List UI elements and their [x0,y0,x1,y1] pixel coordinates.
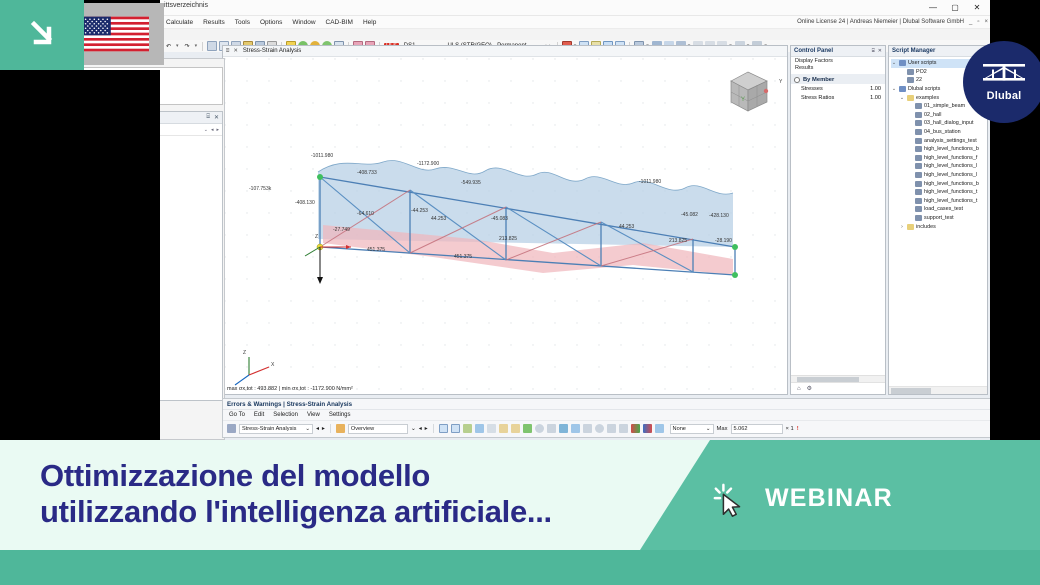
max-value: 5.062 [734,426,748,432]
analysis-next-icon[interactable]: ▸ [322,426,325,432]
menu-item-help[interactable]: Help [363,19,376,26]
result-label: 213.825 [499,236,517,242]
result-label: -27.749 [333,227,350,233]
script-file-icon [907,69,914,75]
script-tree-item[interactable]: high_level_functions_l [891,162,987,171]
max-label: Max [717,426,728,432]
menu-item-selection[interactable]: Selection [273,412,298,418]
script-tree-item[interactable]: analysis_settings_test [891,136,987,145]
script-file-icon [915,103,922,109]
control-panel: Control Panel ⌸ ✕ Display Factors Result… [790,45,886,395]
script-tree-item[interactable]: support_test [891,214,987,223]
script-tree-item[interactable]: 04_bus_station [891,128,987,137]
menu-item-view[interactable]: View [307,412,320,418]
script-tree-item-label: 02_hall [924,112,941,118]
script-file-icon [915,112,922,118]
left-black-strip [0,70,160,440]
filter-select-value: None [673,426,686,432]
script-tree-item-label: 03_hall_dialog_input [924,120,973,126]
home-icon[interactable]: ⌂ [797,386,801,392]
viewport-title: Stress-Strain Analysis [243,48,301,54]
group-results-icon[interactable] [571,424,580,433]
banner-title-line-1: Ottimizzazione del modello [40,458,700,494]
overview-next-icon[interactable]: ▸ [425,426,428,432]
analysis-select-value: Stress-Strain Analysis [242,426,296,432]
result-label: -64.610 [357,211,374,217]
script-tree-item-label: high_level_functions_t [924,189,977,195]
errors-warnings-title: Errors & Warnings | Stress-Strain Analys… [227,401,352,408]
webinar-banner: Ottimizzazione del modello utilizzando l… [0,440,1040,550]
navigator-close-icon[interactable]: ✕ [214,114,219,121]
factor-row-stress-ratios[interactable]: Stress Ratios 1.00 [791,93,885,102]
script-tree-item[interactable]: high_level_functions_b [891,145,987,154]
factor-label: Stresses [801,86,823,92]
arrow-down-right-icon [25,18,59,52]
script-file-icon [915,206,922,212]
viewport-close-icon[interactable]: ✕ [233,48,238,55]
view-cube[interactable]: Y [721,65,775,119]
svg-text:Z: Z [243,350,246,356]
script-tree-item[interactable]: high_level_functions_t [891,188,987,197]
result-label: 451.375 [367,247,385,253]
result-label: -45.083 [491,216,508,222]
errors-warnings-dock: Errors & Warnings | Stress-Strain Analys… [222,398,1038,438]
script-file-icon [907,77,914,83]
menu-item-cad-bim[interactable]: CAD-BIM [326,19,353,26]
document-minimize-button[interactable]: _ [969,19,972,25]
script-file-icon [915,163,922,169]
banner-title: Ottimizzazione del modello utilizzando l… [40,458,700,530]
script-tree-item-label: examples [916,95,939,101]
webinar-tag: WEBINAR [765,484,893,513]
analysis-type-icon [227,424,236,433]
search-results-icon[interactable] [595,424,604,433]
banner-bottom-bar [0,550,1040,585]
script-file-icon [915,198,922,204]
script-tree-item-label: 04_bus_station [924,129,961,135]
filter-select[interactable]: None ⌄ [670,424,714,434]
errors-warnings-header: Errors & Warnings | Stress-Strain Analys… [223,399,1037,410]
result-label: -44.253 [411,208,428,214]
maximize-button[interactable]: ▢ [944,0,966,15]
window-title: ittsverzeichnis [164,2,208,9]
navigator-prev-icon[interactable]: ◂ [211,127,214,133]
result-label: -408.733 [357,170,377,176]
script-tree-item-label: high_level_functions_l [924,163,977,169]
result-label: -1011.980 [311,153,333,159]
folder-icon [899,86,906,92]
open-folder-icon[interactable] [499,424,508,433]
script-tree-item-label: load_cases_test [924,206,963,212]
warning-indicator-icon[interactable]: ! [797,426,799,432]
script-tree-item[interactable]: high_level_functions_t [891,197,987,206]
overview-select[interactable]: Overview [348,424,408,434]
minimize-button[interactable]: — [922,0,944,15]
script-manager-title: Script Manager [892,48,935,54]
control-panel-header: Control Panel ⌸ ✕ [791,46,885,57]
script-file-icon [915,138,922,144]
viewport-pin-icon[interactable]: ⌸ [226,48,229,55]
script-file-icon [915,189,922,195]
script-file-icon [915,181,922,187]
result-label: -549.935 [461,180,481,186]
factor-label: Stress Ratios [801,95,834,101]
control-panel-scrollbar[interactable] [791,375,885,382]
folder-icon [907,224,914,230]
by-member-group[interactable]: By Member [791,74,885,84]
result-label: -107.753k [249,186,271,192]
by-member-radio[interactable] [794,77,800,83]
script-tree-item[interactable]: 02_hall [891,111,987,120]
menu-item-window[interactable]: Window [292,19,315,26]
tree-expand-arrow-icon[interactable]: ⌄ [891,60,897,66]
settings-icon[interactable]: ⚙ [807,385,812,392]
script-file-icon [915,146,922,152]
zoom-icon[interactable] [607,424,616,433]
results-label: Results [791,64,885,71]
document-close-button[interactable]: × [984,19,988,25]
control-panel-footer: ⌂ ⚙ [791,382,885,394]
script-tree-item-label: high_level_functions_l [924,172,977,178]
script-file-icon [915,120,922,126]
window-titlebar: ittsverzeichnis — ▢ ✕ [160,0,990,16]
model-view-icon[interactable] [207,41,217,51]
viewport-canvas[interactable]: X Z -1011.980 -408.733 -1172.900 -549.93… [223,57,787,394]
result-label: -408.130 [295,200,315,206]
print-icon[interactable] [547,424,556,433]
script-tree-item-label: high_level_functions_b [924,181,979,187]
view-axis-y-label: Y [779,79,782,85]
analysis-select[interactable]: Stress-Strain Analysis ⌄ [239,424,313,434]
tree-expand-arrow-icon[interactable]: › [899,224,905,230]
menu-item-tools[interactable]: Tools [235,19,250,26]
result-label: -428.130 [709,213,729,219]
analysis-prev-icon[interactable]: ◂ [316,426,319,432]
tree-expand-arrow-icon[interactable]: ⌄ [899,95,905,101]
control-panel-pin-icon[interactable]: ⌸ [872,48,875,54]
navigator-pin-icon[interactable]: ⌸ [206,114,210,121]
document-restore-button[interactable]: ▫ [977,19,979,25]
close-button[interactable]: ✕ [966,0,988,15]
display-factors-label: Display Factors [791,57,885,64]
license-info-row: Online License 24 | Andreas Niemeier | D… [797,16,988,27]
arrow-badge [0,0,84,70]
color-scale-icon[interactable] [631,424,640,433]
banner-title-line-2: utilizzando l'intelligenza artificiale..… [40,494,700,530]
result-label: 44.253 [619,224,634,230]
factor-value[interactable]: 1.00 [870,95,881,101]
analysis-select-caret-icon[interactable]: ⌄ [305,426,310,432]
folder-icon [907,95,914,101]
dlubal-mark-icon [982,63,1026,89]
save-folder-icon[interactable] [511,424,520,433]
screenshot-root: ittsverzeichnis — ▢ ✕ Calculate Results … [0,0,1040,585]
navigator-caret-icon[interactable]: ⌄ [204,127,208,133]
click-cursor-icon [712,482,750,520]
menu-item-settings[interactable]: Settings [329,412,351,418]
script-tree-item-label: support_test [924,215,954,221]
result-label: -1172.900 [417,161,439,167]
undo-caret-icon[interactable]: ▾ [176,43,179,49]
script-tree-item-label: high_level_functions_f [924,155,977,161]
script-tree-item-label: Dlubal scripts [908,86,940,92]
script-file-icon [915,155,922,161]
color-scale-2-icon[interactable] [643,424,652,433]
script-tree-item-label: PO2 [916,69,927,75]
script-tree-item-label: includes [916,224,936,230]
script-tree-item[interactable]: high_level_functions_l [891,171,987,180]
distribute-results-icon[interactable] [655,424,664,433]
globe-icon[interactable] [535,424,544,433]
surface-results-icon[interactable] [475,424,484,433]
max-value-field[interactable]: 5.062 [731,424,783,434]
pin-results-icon[interactable] [583,424,592,433]
folder-icon [899,60,906,66]
control-panel-close-icon[interactable]: ✕ [878,48,882,54]
multiplier-label[interactable]: × 1 [786,426,794,432]
model-viewport[interactable]: ⌸ ✕ Stress-Strain Analysis [222,45,788,395]
overview-select-value: Overview [351,426,374,432]
stress-diagram-svg: X Z [223,57,787,394]
overview-prev-icon[interactable]: ◂ [419,426,422,432]
usa-flag-icon [83,13,149,55]
refresh-icon[interactable] [451,424,460,433]
menu-item-go-to[interactable]: Go To [229,412,245,418]
chart-icon[interactable] [523,424,532,433]
filter-select-caret-icon[interactable]: ⌄ [706,426,711,432]
script-tree-item-label: high_level_functions_t [924,198,977,204]
result-label: 213.825 [669,238,687,244]
dlubal-logo-badge: Dlubal [963,41,1040,123]
result-label: 451.375 [454,254,472,260]
redo-icon[interactable]: ↷ [182,43,193,50]
control-panel-title: Control Panel [794,48,833,54]
redo-caret-icon[interactable]: ▾ [195,43,198,49]
svg-text:Y: Y [741,97,745,103]
navigator-next-icon[interactable]: ▸ [216,127,219,133]
menu-item-results[interactable]: Results [203,19,225,26]
overview-caret-icon[interactable]: ⌄ [411,426,416,432]
result-label: 44.253 [431,216,446,222]
zoom-results-icon[interactable] [439,424,448,433]
script-tree-item[interactable]: high_level_functions_b [891,179,987,188]
result-label: -1011.980 [639,179,661,185]
tree-expand-arrow-icon[interactable]: ⌄ [891,86,897,92]
script-tree-item-label: 01_simple_beam [924,103,965,109]
errors-warnings-menubar: Go To Edit Selection View Settings [223,410,1037,420]
dlubal-wordmark: Dlubal [987,90,1022,102]
filter-results-icon[interactable] [559,424,568,433]
member-results-icon[interactable] [463,424,472,433]
script-tree-item-label: analysis_settings_test [924,138,977,144]
viewport-status-text: max σx,tot : 493.882 | min σx,tot : -117… [227,386,353,392]
result-label-z-axis: Z [315,234,318,240]
window-controls: — ▢ ✕ [922,0,988,15]
script-tree-item[interactable]: 03_hall_dialog_input [891,119,987,128]
script-tree-item-label: 22 [916,77,922,83]
sort-icon[interactable] [619,424,628,433]
script-tree-item-label: User scripts [908,60,936,66]
result-label: -45.082 [681,212,698,218]
overview-icon [336,424,345,433]
factor-row-stresses[interactable]: Stresses 1.00 [791,84,885,93]
toolbar-separator [202,42,203,51]
script-file-icon [915,172,922,178]
script-tree-item[interactable]: high_level_functions_f [891,154,987,163]
viewport-caption-bar: ⌸ ✕ Stress-Strain Analysis [223,46,787,57]
script-tree-item-label: high_level_functions_b [924,146,979,152]
script-file-icon [915,215,922,221]
by-member-label: By Member [803,77,834,83]
script-manager-scrollbar[interactable] [889,386,987,394]
menu-item-options[interactable]: Options [260,19,282,26]
script-tree-item[interactable]: load_cases_test [891,205,987,214]
undo-icon[interactable]: ↶ [163,43,174,50]
menu-item-calculate[interactable]: Calculate [166,19,193,26]
table-export-icon[interactable] [487,424,496,433]
factor-value[interactable]: 1.00 [870,86,881,92]
menu-item-edit[interactable]: Edit [254,412,264,418]
result-label: -28.190 [715,238,732,244]
license-text: Online License 24 | Andreas Niemeier | D… [797,19,964,25]
errors-warnings-toolbar: Stress-Strain Analysis ⌄ ◂ ▸ Overview ⌄ … [223,420,1037,436]
script-tree-item[interactable]: ›includes [891,222,987,231]
script-file-icon [915,129,922,135]
